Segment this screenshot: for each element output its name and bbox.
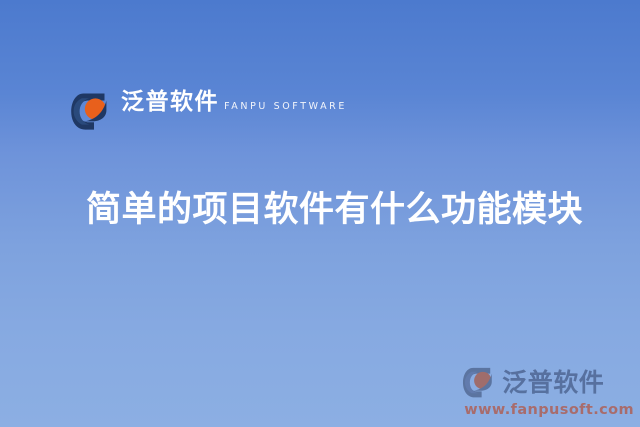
watermark-brand-name: 泛普软件 bbox=[502, 369, 604, 397]
brand-text-block: 泛普软件 FANPU SOFTWARE bbox=[121, 88, 347, 116]
watermark-logo-row: 泛普软件 bbox=[462, 365, 634, 401]
brand-name-en: FANPU SOFTWARE bbox=[224, 101, 347, 112]
fanpu-logo-icon bbox=[70, 90, 114, 134]
brand-lockup: 泛普软件 FANPU SOFTWARE bbox=[70, 88, 347, 134]
promo-banner: 泛普软件 FANPU SOFTWARE 简单的项目软件有什么功能模块 泛普软件 … bbox=[0, 0, 640, 427]
page-title: 简单的项目软件有什么功能模块 bbox=[86, 188, 583, 232]
watermark: 泛普软件 www.fanpusoft.com bbox=[462, 365, 634, 419]
fanpu-logo-icon bbox=[462, 365, 498, 401]
watermark-url: www.fanpusoft.com bbox=[464, 402, 634, 419]
brand-name-cn: 泛普软件 bbox=[121, 89, 219, 115]
